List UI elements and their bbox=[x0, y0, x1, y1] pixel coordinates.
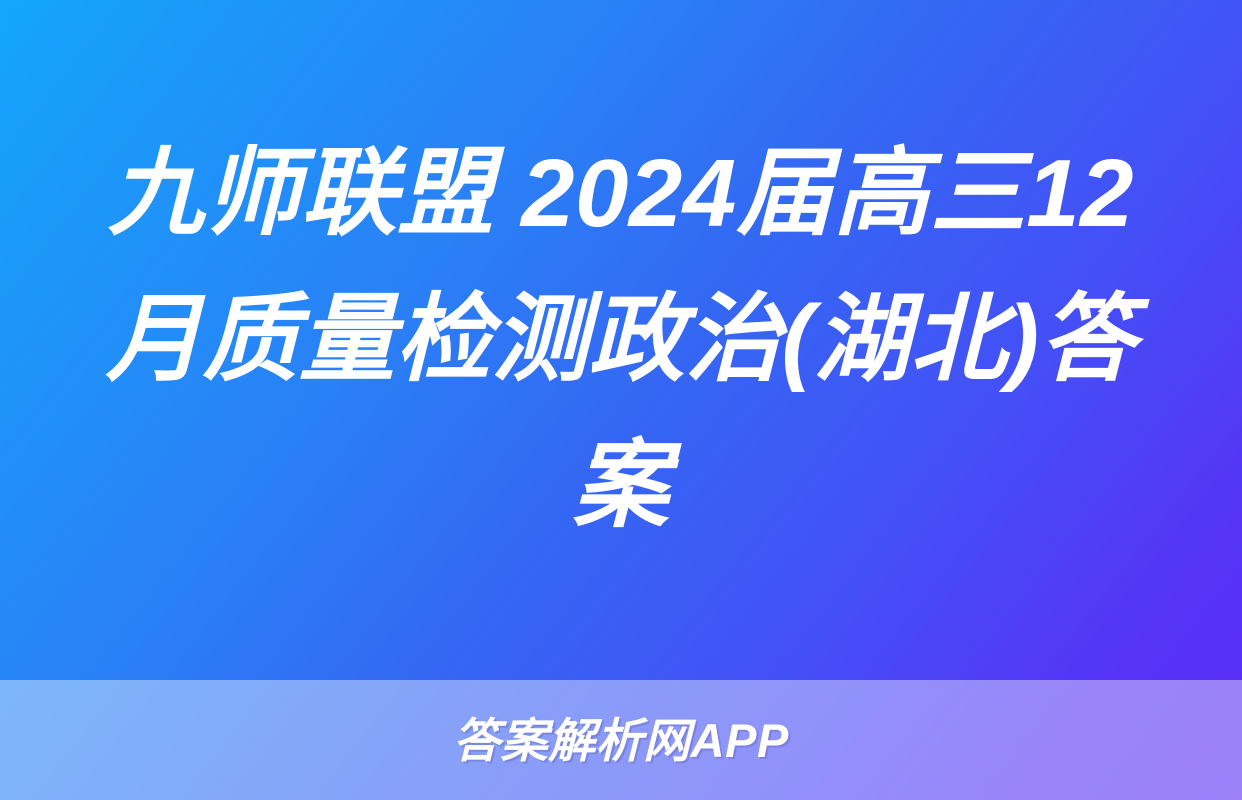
answer-cover-poster: 九师联盟 2024届高三12月质量检测政治(湖北)答案 答案解析网APP bbox=[0, 0, 1242, 800]
page-title: 九师联盟 2024届高三12月质量检测政治(湖北)答案 bbox=[90, 121, 1152, 559]
hero-section: 九师联盟 2024届高三12月质量检测政治(湖北)答案 bbox=[0, 0, 1242, 680]
footer-watermark-band: 答案解析网APP bbox=[0, 680, 1242, 800]
app-watermark-label: 答案解析网APP bbox=[453, 717, 789, 764]
